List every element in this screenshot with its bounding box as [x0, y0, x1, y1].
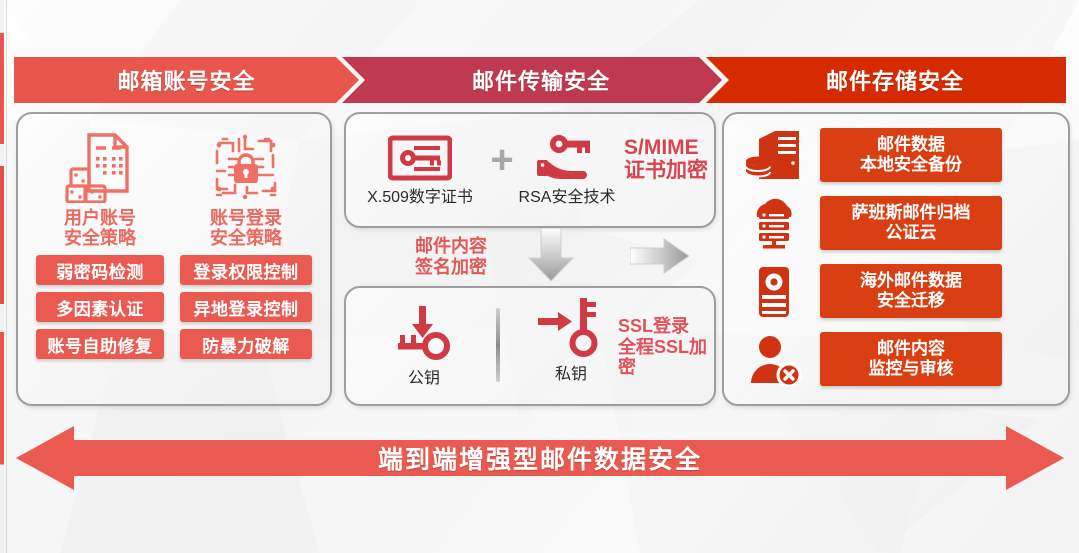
login-policy-column: 账号登录 安全策略 登录权限控制 异地登录控制 防暴力破解: [176, 128, 316, 359]
header-account-security-label: 邮箱账号安全: [117, 64, 255, 96]
storage-card-local-backup-line1: 邮件数据: [877, 135, 945, 155]
login-policy-title-line2: 安全策略: [176, 228, 316, 248]
smime-label: S/MIME 证书加密: [624, 136, 710, 182]
storage-card-sox-archive[interactable]: 萨班斯邮件归档 公证云: [820, 196, 1002, 250]
account-policy-title-line1: 用户账号: [30, 208, 170, 228]
hand-key-icon: [506, 126, 628, 182]
account-policy-column: 用户账号 安全策略 弱密码检测 多因素认证 账号自助修复: [30, 128, 170, 359]
pill-multi-factor-auth[interactable]: 多因素认证: [36, 292, 164, 322]
diagram-canvas: 邮箱账号安全 邮件传输安全 邮件存储安全: [0, 0, 1079, 553]
flow-label-line1: 邮件内容: [386, 236, 516, 257]
login-policy-title-line1: 账号登录: [176, 208, 316, 228]
arrow-down-icon: [528, 228, 574, 282]
storage-card-local-backup[interactable]: 邮件数据 本地安全备份: [820, 128, 1002, 182]
header-account-security[interactable]: 邮箱账号安全: [14, 57, 359, 103]
smime-label-line1: S/MIME: [624, 136, 710, 159]
ssl-label-line1: SSL登录: [618, 316, 710, 337]
storage-card-local-backup-line2: 本地安全备份: [860, 155, 962, 175]
pill-anti-bruteforce[interactable]: 防暴力破解: [180, 329, 312, 359]
storage-card-content-monitoring-line2: 监控与审核: [869, 359, 954, 379]
pill-account-self-recovery[interactable]: 账号自助修复: [36, 329, 164, 359]
smime-label-line2: 证书加密: [624, 159, 710, 182]
key-divider: [496, 308, 500, 382]
left-edge-accent: [0, 0, 4, 553]
circuit-lock-icon: [176, 128, 316, 206]
arrow-right-icon: [630, 238, 690, 274]
disk-stack-icon: [742, 264, 806, 320]
header-transport-security[interactable]: 邮件传输安全: [342, 57, 722, 103]
flow-label-sign-encrypt: 邮件内容 签名加密: [386, 236, 516, 277]
login-policy-title: 账号登录 安全策略: [176, 208, 316, 248]
storage-card-overseas-migration-line1: 海外邮件数据: [860, 271, 962, 291]
end-to-end-banner[interactable]: [16, 424, 1064, 492]
private-key-icon: [512, 298, 630, 358]
transport-key-panel: 公钥 私钥 SSL登录 全程SSL加密: [344, 286, 716, 406]
rsa-technology-caption: RSA安全技术: [506, 183, 628, 207]
transport-certificate-panel: X.509数字证书 +: [344, 112, 716, 228]
id-card-key-icon: [354, 126, 486, 182]
storage-security-panel: 邮件数据 本地安全备份: [722, 112, 1070, 406]
storage-card-sox-archive-line2: 公证云: [886, 223, 937, 243]
public-key-caption: 公钥: [366, 364, 482, 388]
x509-certificate-item: X.509数字证书: [354, 126, 486, 207]
public-key-item: 公钥: [366, 302, 482, 388]
left-border-line: [6, 0, 7, 553]
document-dice-icon: [30, 128, 170, 206]
account-security-panel: 用户账号 安全策略 弱密码检测 多因素认证 账号自助修复: [16, 112, 332, 406]
pill-remote-login-control[interactable]: 异地登录控制: [180, 292, 312, 322]
public-key-icon: [366, 302, 482, 362]
private-key-caption: 私钥: [512, 360, 630, 384]
cloud-server-icon: [742, 196, 806, 252]
header-storage-security[interactable]: 邮件存储安全: [706, 57, 1066, 103]
rsa-technology-item: RSA安全技术: [506, 126, 628, 207]
server-database-icon: [742, 128, 806, 184]
storage-card-overseas-migration[interactable]: 海外邮件数据 安全迁移: [820, 264, 1002, 318]
ssl-label-line2: 全程SSL加密: [618, 337, 710, 378]
storage-card-content-monitoring-line1: 邮件内容: [877, 339, 945, 359]
pill-login-permission-control[interactable]: 登录权限控制: [180, 255, 312, 285]
storage-card-content-monitoring[interactable]: 邮件内容 监控与审核: [820, 332, 1002, 386]
header-storage-security-label: 邮件存储安全: [808, 64, 964, 96]
user-block-icon: [742, 332, 806, 388]
ssl-label: SSL登录 全程SSL加密: [618, 316, 710, 378]
header-transport-security-label: 邮件传输安全: [454, 64, 610, 96]
storage-card-overseas-migration-line2: 安全迁移: [877, 291, 945, 311]
storage-card-sox-archive-line1: 萨班斯邮件归档: [852, 203, 971, 223]
flow-label-line2: 签名加密: [386, 257, 516, 278]
private-key-item: 私钥: [512, 298, 630, 384]
account-policy-title: 用户账号 安全策略: [30, 208, 170, 248]
x509-certificate-caption: X.509数字证书: [354, 183, 486, 207]
account-policy-title-line2: 安全策略: [30, 228, 170, 248]
pill-weak-password-detection[interactable]: 弱密码检测: [36, 255, 164, 285]
